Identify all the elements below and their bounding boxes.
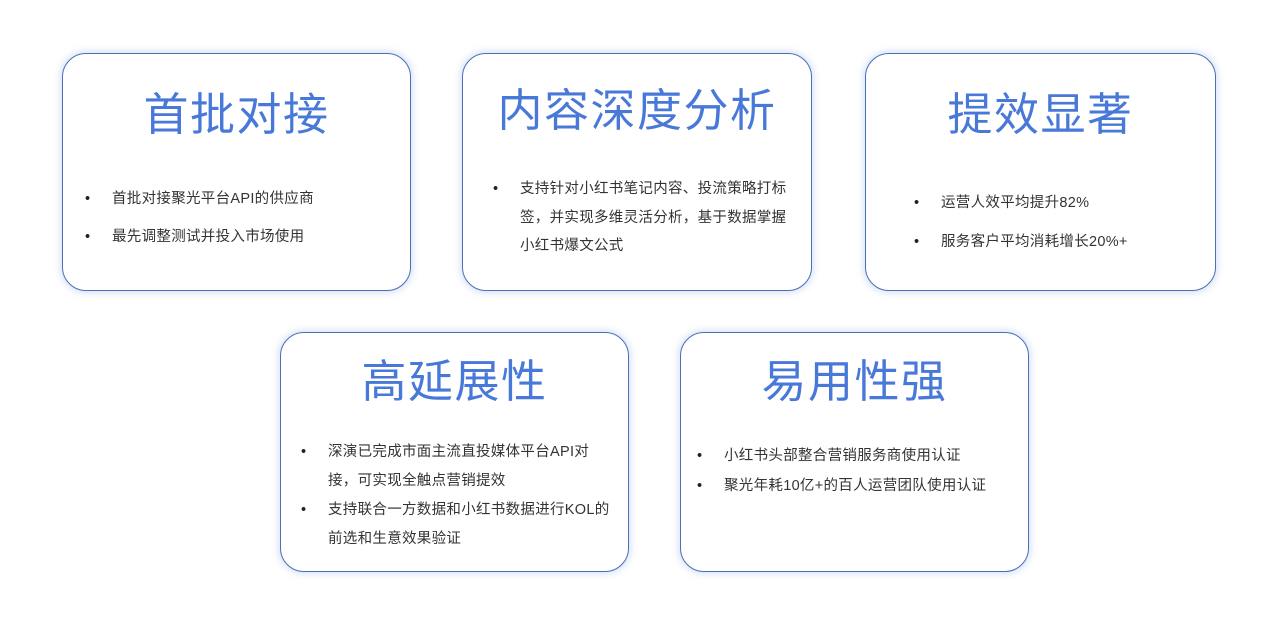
card-title: 首批对接 xyxy=(63,88,410,141)
bullet-text: 聚光年耗10亿+的百人运营团队使用认证 xyxy=(724,472,1014,501)
bullet-text: 运营人效平均提升82% xyxy=(941,189,1201,218)
bullet-dot-icon: • xyxy=(914,189,941,218)
list-item: • 服务客户平均消耗增长20%+ xyxy=(914,228,1201,257)
card-bullet-list: • 小红书头部整合营销服务商使用认证 • 聚光年耗10亿+的百人运营团队使用认证 xyxy=(681,442,1028,500)
bullet-dot-icon: • xyxy=(493,175,520,204)
bullet-text: 服务客户平均消耗增长20%+ xyxy=(941,228,1201,257)
list-item: • 深演已完成市面主流直投媒体平台API对接，可实现全触点营销提效 xyxy=(301,438,614,495)
feature-cards-slide: 首批对接 • 首批对接聚光平台API的供应商 • 最先调整测试并投入市场使用 内… xyxy=(0,0,1280,625)
feature-card-ease-of-use: 易用性强 • 小红书头部整合营销服务商使用认证 • 聚光年耗10亿+的百人运营团… xyxy=(680,332,1029,572)
bullet-text: 最先调整测试并投入市场使用 xyxy=(112,223,394,252)
card-bullet-list: • 首批对接聚光平台API的供应商 • 最先调整测试并投入市场使用 xyxy=(63,185,410,251)
bullet-dot-icon: • xyxy=(697,472,724,501)
list-item: • 聚光年耗10亿+的百人运营团队使用认证 xyxy=(697,472,1014,501)
card-bullet-list: • 运营人效平均提升82% • 服务客户平均消耗增长20%+ xyxy=(866,189,1215,256)
feature-card-content-analysis: 内容深度分析 • 支持针对小红书笔记内容、投流策略打标签，并实现多维灵活分析，基… xyxy=(462,53,812,291)
bullet-dot-icon: • xyxy=(85,223,112,252)
feature-card-extensibility: 高延展性 • 深演已完成市面主流直投媒体平台API对接，可实现全触点营销提效 •… xyxy=(280,332,629,572)
list-item: • 支持联合一方数据和小红书数据进行KOL的前选和生意效果验证 xyxy=(301,496,614,553)
bullet-dot-icon: • xyxy=(301,496,328,525)
bullet-text: 支持针对小红书笔记内容、投流策略打标签，并实现多维灵活分析，基于数据掌握小红书爆… xyxy=(520,175,793,261)
list-item: • 支持针对小红书笔记内容、投流策略打标签，并实现多维灵活分析，基于数据掌握小红… xyxy=(493,175,793,261)
bullet-text: 首批对接聚光平台API的供应商 xyxy=(112,185,394,214)
card-bullet-list: • 深演已完成市面主流直投媒体平台API对接，可实现全触点营销提效 • 支持联合… xyxy=(281,438,628,553)
card-title: 提效显著 xyxy=(866,88,1215,141)
bullet-text: 小红书头部整合营销服务商使用认证 xyxy=(724,442,1014,471)
card-title: 易用性强 xyxy=(681,355,1028,408)
card-title: 高延展性 xyxy=(281,355,628,408)
list-item: • 最先调整测试并投入市场使用 xyxy=(85,223,394,252)
bullet-dot-icon: • xyxy=(697,442,724,471)
bullet-dot-icon: • xyxy=(301,438,328,467)
feature-card-efficiency-gain: 提效显著 • 运营人效平均提升82% • 服务客户平均消耗增长20%+ xyxy=(865,53,1216,291)
list-item: • 运营人效平均提升82% xyxy=(914,189,1201,218)
bullet-dot-icon: • xyxy=(85,185,112,214)
bullet-text: 支持联合一方数据和小红书数据进行KOL的前选和生意效果验证 xyxy=(328,496,614,553)
bullet-dot-icon: • xyxy=(914,228,941,257)
card-title: 内容深度分析 xyxy=(463,84,811,137)
card-bullet-list: • 支持针对小红书笔记内容、投流策略打标签，并实现多维灵活分析，基于数据掌握小红… xyxy=(463,175,811,261)
list-item: • 小红书头部整合营销服务商使用认证 xyxy=(697,442,1014,471)
feature-card-first-integration: 首批对接 • 首批对接聚光平台API的供应商 • 最先调整测试并投入市场使用 xyxy=(62,53,411,291)
bullet-text: 深演已完成市面主流直投媒体平台API对接，可实现全触点营销提效 xyxy=(328,438,614,495)
list-item: • 首批对接聚光平台API的供应商 xyxy=(85,185,394,214)
